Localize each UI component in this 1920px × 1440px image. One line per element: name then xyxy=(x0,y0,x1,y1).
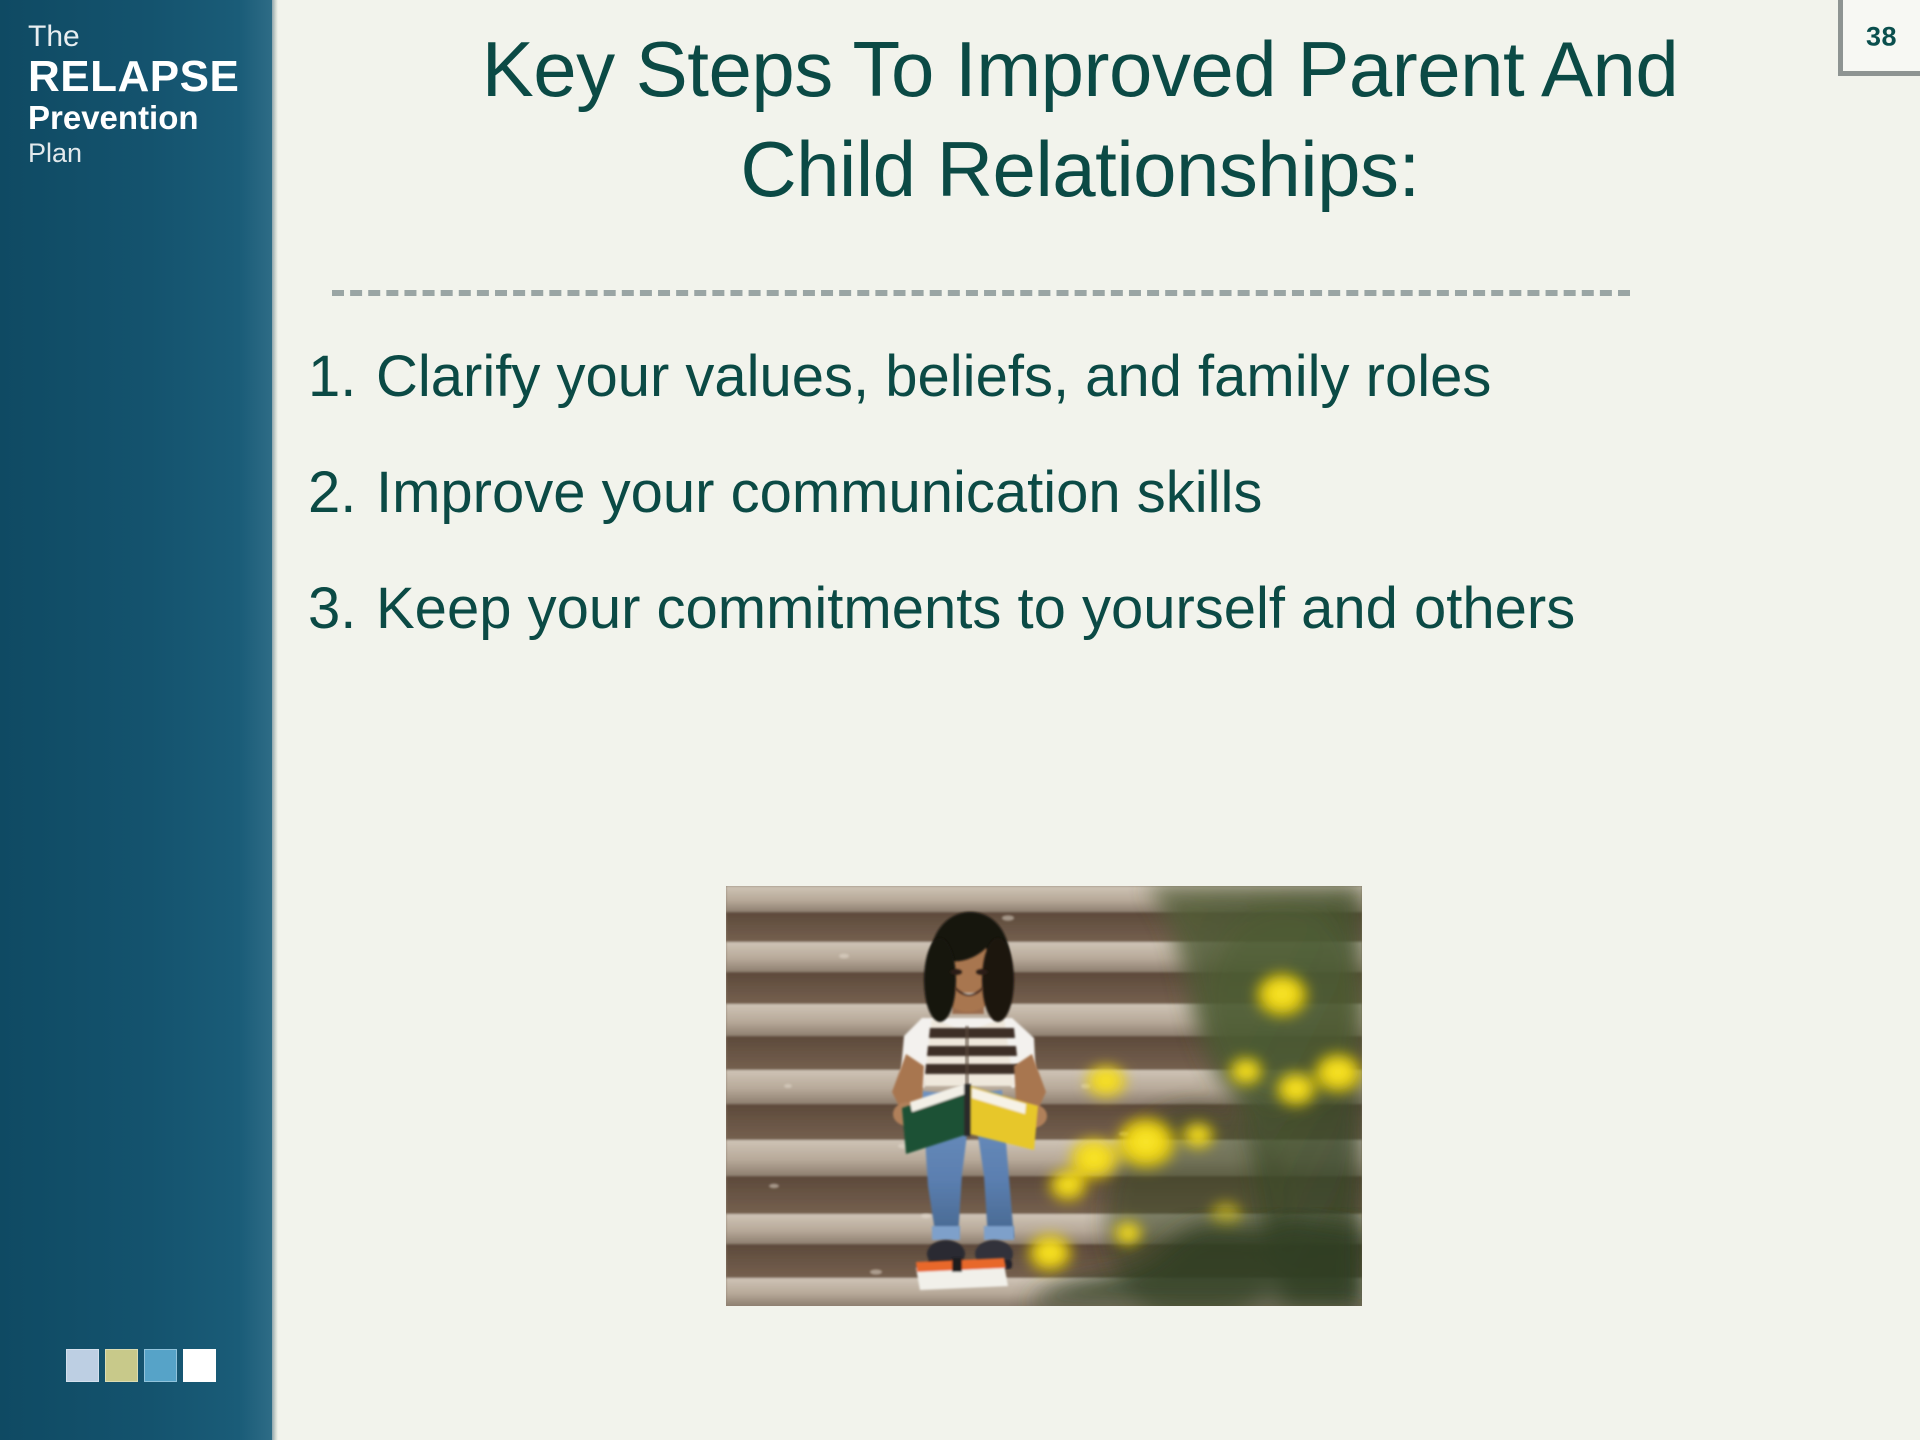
relapse-prevention-plan-logo: The RELAPSE Prevention Plan xyxy=(28,22,258,167)
list-item: 3. Keep your commitments to yourself and… xyxy=(308,580,1888,638)
page-title: Key Steps To Improved Parent And Child R… xyxy=(300,20,1860,220)
list-item: 1. Clarify your values, beliefs, and fam… xyxy=(308,348,1888,406)
list-item-marker: 3. xyxy=(308,580,376,638)
color-swatch-strip xyxy=(66,1349,216,1382)
dashed-divider xyxy=(332,290,1630,296)
page-number: 38 xyxy=(1866,22,1897,53)
logo-line-plan: Plan xyxy=(28,140,258,167)
list-item-marker: 1. xyxy=(308,348,376,406)
color-swatch-3 xyxy=(144,1349,177,1382)
page-title-line-1: Key Steps To Improved Parent And xyxy=(300,20,1860,120)
color-swatch-4 xyxy=(183,1349,216,1382)
sidebar-edge-divider xyxy=(272,0,278,1440)
steps-list: 1. Clarify your values, beliefs, and fam… xyxy=(308,348,1888,696)
photo-illustration xyxy=(726,886,1362,1306)
sidebar xyxy=(0,0,272,1440)
list-item-label: Clarify your values, beliefs, and family… xyxy=(376,348,1491,406)
color-swatch-1 xyxy=(66,1349,99,1382)
list-item-marker: 2. xyxy=(308,464,376,522)
photo-student-reading-on-steps xyxy=(726,886,1362,1306)
logo-line-the: The xyxy=(28,22,258,52)
color-swatch-2 xyxy=(105,1349,138,1382)
slide: The RELAPSE Prevention Plan 38 Key Steps… xyxy=(0,0,1920,1440)
logo-line-prevention: Prevention xyxy=(28,100,258,137)
list-item-label: Improve your communication skills xyxy=(376,464,1262,522)
list-item-label: Keep your commitments to yourself and ot… xyxy=(376,580,1575,638)
logo-line-relapse: RELAPSE xyxy=(28,54,258,100)
list-item: 2. Improve your communication skills xyxy=(308,464,1888,522)
page-title-line-2: Child Relationships: xyxy=(300,120,1860,220)
